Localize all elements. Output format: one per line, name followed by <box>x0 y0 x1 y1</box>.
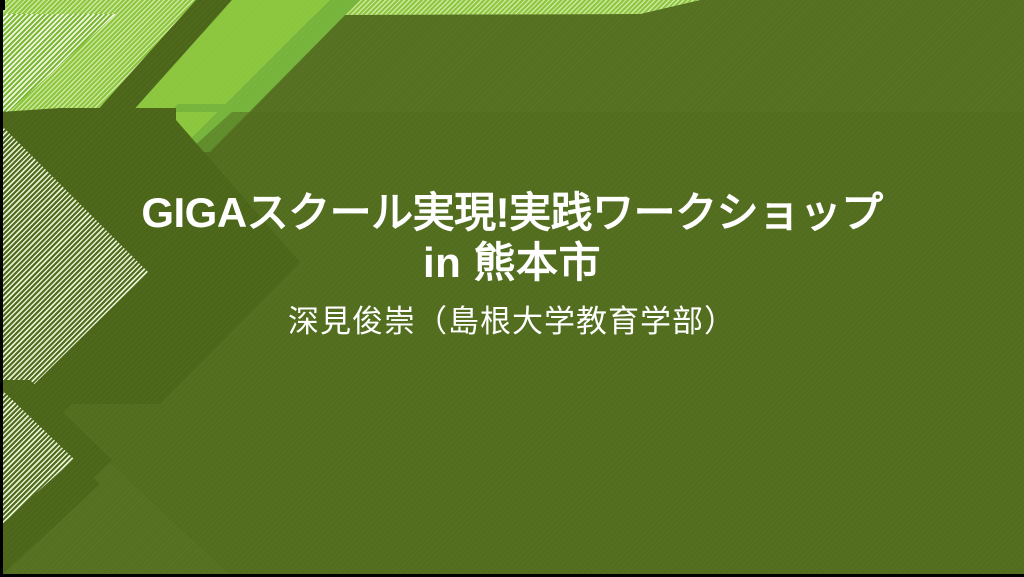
page-title-line-2: in 熊本市 <box>0 238 1024 288</box>
presenter-subtitle: 深見俊崇（島根大学教育学部） <box>0 298 1024 346</box>
frame-edge-left <box>0 0 3 577</box>
title-text-block: GIGAスクール実現!実践ワークショップ in 熊本市 深見俊崇（島根大学教育学… <box>0 188 1024 346</box>
page-title-line-1: GIGAスクール実現!実践ワークショップ <box>0 188 1024 238</box>
frame-edge-top-left <box>0 0 5 10</box>
slide-canvas: GIGAスクール実現!実践ワークショップ in 熊本市 深見俊崇（島根大学教育学… <box>0 0 1024 577</box>
